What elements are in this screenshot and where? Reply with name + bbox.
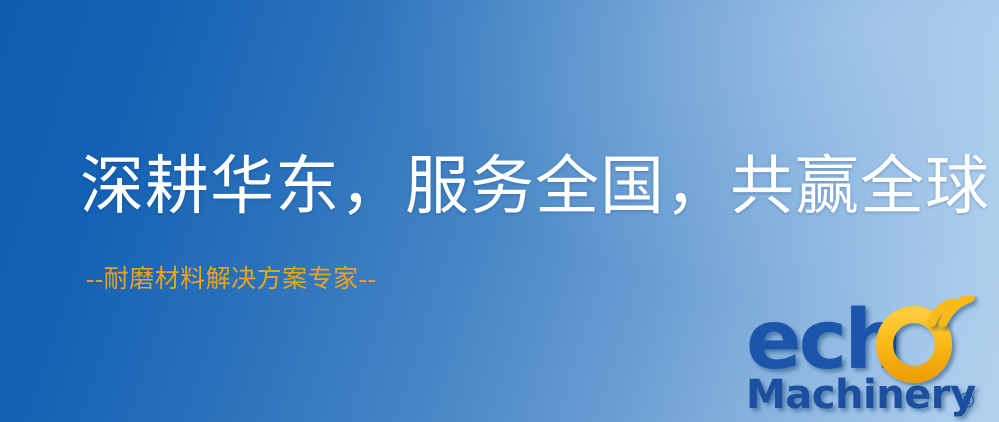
svg-text:Machinery: Machinery: [746, 372, 976, 418]
banner-subtitle: --耐磨材料解决方案专家--: [86, 265, 376, 295]
signal-waves-icon: [932, 298, 970, 323]
page-title: 深耕华东，服务全国，共赢全球: [80, 152, 990, 221]
promo-banner: 深耕华东，服务全国，共赢全球 --耐磨材料解决方案专家--: [0, 0, 999, 422]
svg-text:®: ®: [956, 389, 977, 413]
echo-machinery-logo: ech Machinery ®: [744, 296, 999, 422]
logo-tagline-machinery: Machinery ®: [746, 372, 977, 418]
